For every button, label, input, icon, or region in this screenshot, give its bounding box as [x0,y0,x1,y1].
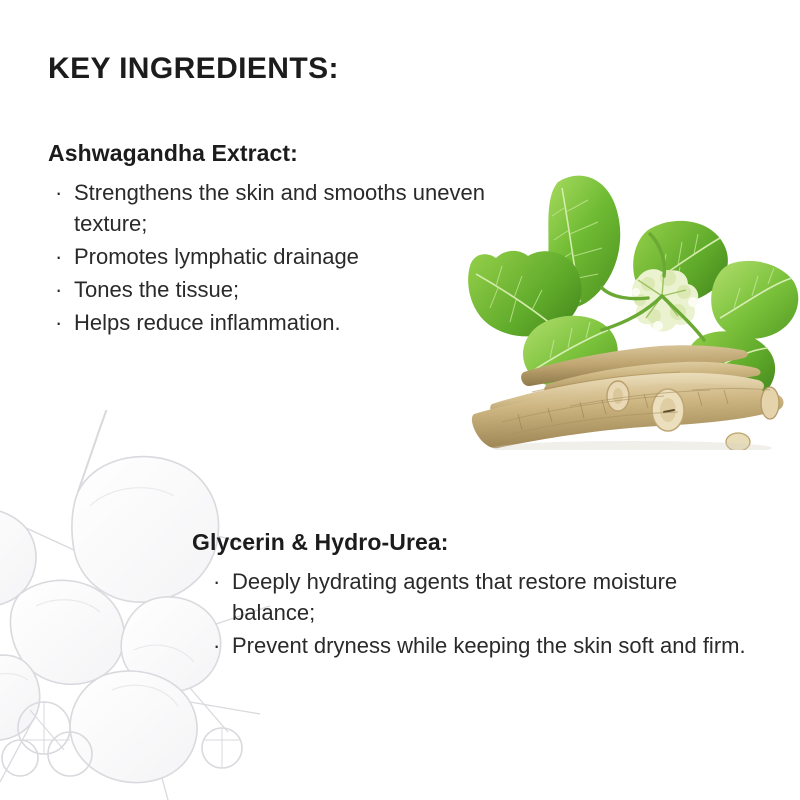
section-ashwagandha-extract: Ashwagandha Extract: · Strengthens the s… [48,140,548,340]
list-item-label: Strengthens the skin and smooths uneven … [74,180,485,236]
list-item-label: Prevent dryness while keeping the skin s… [232,633,746,658]
bullet-list-glycerin: · Deeply hydrating agents that restore m… [192,566,752,661]
list-item: · Prevent dryness while keeping the skin… [206,630,752,661]
section-glycerin-hydro-urea: Glycerin & Hydro-Urea: · Deeply hydratin… [192,529,752,663]
bullet-dot-icon: · [213,566,220,597]
list-item-label: Helps reduce inflammation. [74,310,341,335]
bullet-dot-icon: · [55,307,62,338]
section-heading-glycerin: Glycerin & Hydro-Urea: [192,529,752,556]
list-item: · Helps reduce inflammation. [48,307,548,338]
list-item-label: Promotes lymphatic drainage [74,244,359,269]
list-item: · Deeply hydrating agents that restore m… [206,566,752,628]
key-ingredients-slide: KEY INGREDIENTS: Ashwagandha Extract: · … [0,0,800,800]
list-item: · Promotes lymphatic drainage [48,241,548,272]
section-heading-ashwagandha: Ashwagandha Extract: [48,140,548,167]
bullet-dot-icon: · [213,630,220,661]
bullet-dot-icon: · [55,241,62,272]
bullet-dot-icon: · [55,274,62,305]
list-item-label: Tones the tissue; [74,277,239,302]
bullet-list-ashwagandha: · Strengthens the skin and smooths uneve… [48,177,548,338]
page-title: KEY INGREDIENTS: [48,52,339,86]
list-item: · Strengthens the skin and smooths uneve… [48,177,548,239]
bullet-dot-icon: · [55,177,62,208]
list-item: · Tones the tissue; [48,274,548,305]
list-item-label: Deeply hydrating agents that restore moi… [232,569,677,625]
